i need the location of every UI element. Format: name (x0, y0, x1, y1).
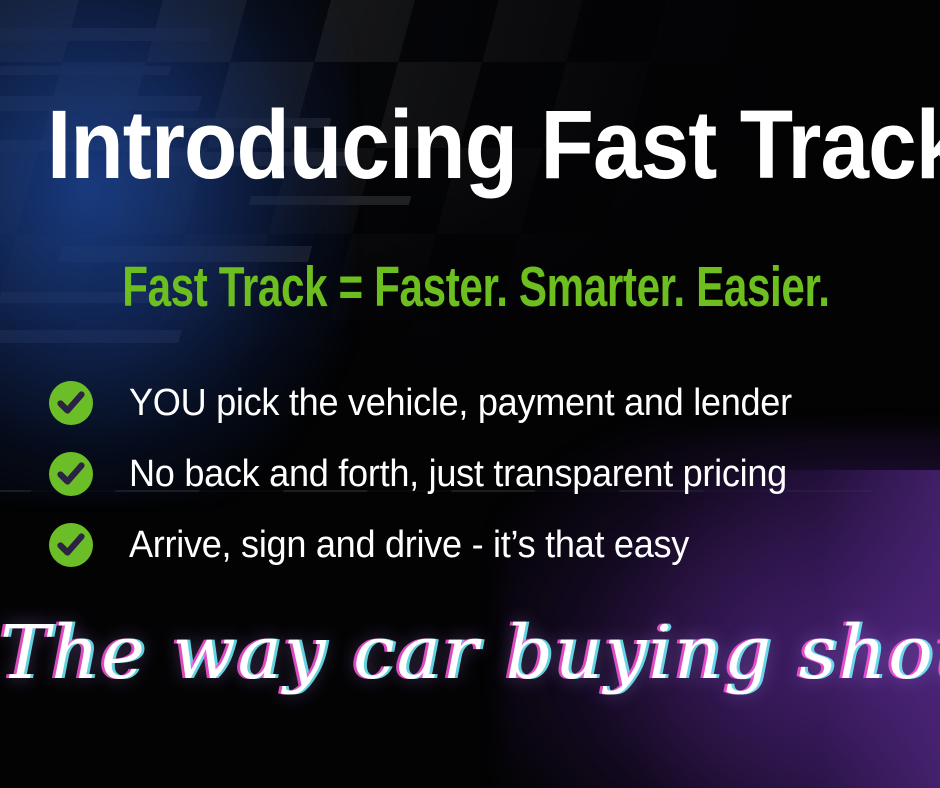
list-item-label: YOU pick the vehicle, payment and lender (129, 384, 792, 422)
benefit-list: YOU pick the vehicle, payment and lender… (48, 378, 908, 591)
list-item: Arrive, sign and drive - it’s that easy (48, 520, 908, 570)
list-item-label: No back and forth, just transparent pric… (129, 455, 787, 493)
tagline: The way car buying should be. (0, 614, 940, 694)
promo-graphic: Introducing Fast Track Fast Track = Fast… (0, 0, 940, 788)
list-item: No back and forth, just transparent pric… (48, 449, 908, 499)
subtitle: Fast Track = Faster. Smarter. Easier. (122, 259, 818, 316)
check-circle-icon (48, 522, 94, 568)
check-circle-icon (48, 451, 94, 497)
page-title: Introducing Fast Track (47, 96, 893, 193)
list-item-label: Arrive, sign and drive - it’s that easy (129, 526, 689, 564)
check-circle-icon (48, 380, 94, 426)
list-item: YOU pick the vehicle, payment and lender (48, 378, 908, 428)
